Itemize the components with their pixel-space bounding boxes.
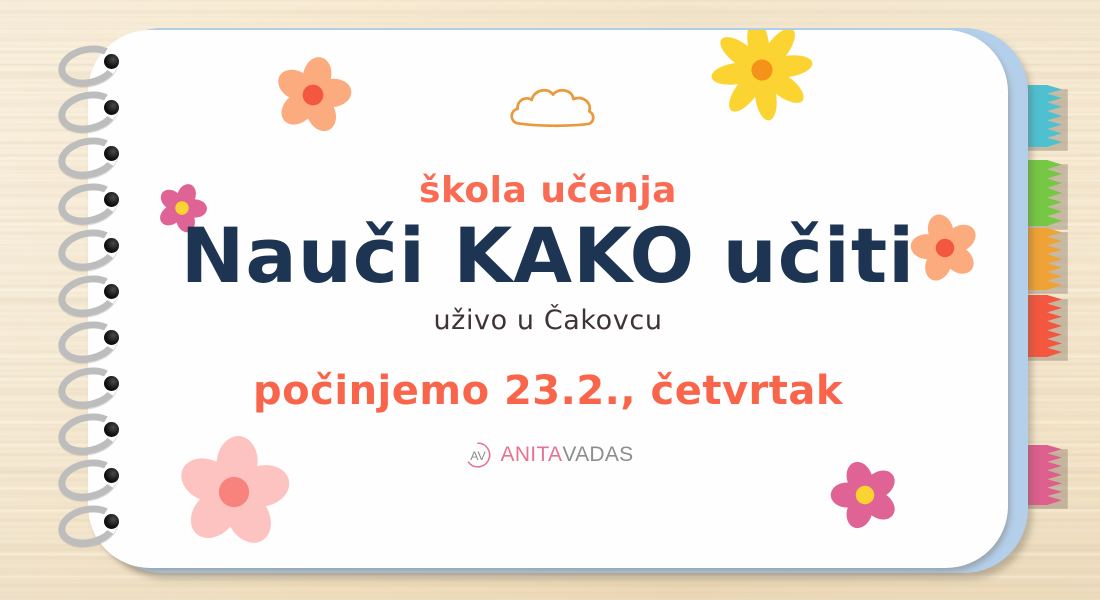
flower-yellow-topright [708,30,816,124]
spiral-ring [58,138,122,180]
spiral-ring [58,414,122,456]
spiral-ring-hole [104,376,119,391]
kicker-text: škola učenja [419,170,677,211]
av-monogram-letters: AV [470,449,486,463]
brand-name-second: VADAS [562,443,633,467]
cloud-doodle [508,84,598,134]
flower-orange-topleft [269,51,357,139]
tagline-text: uživo u Čakovcu [433,305,662,336]
start-date-text: počinjemo 23.2., četvrtak [253,368,843,414]
flower-pink-bottomright [823,453,906,536]
flower-orange-right [905,208,985,288]
spiral-ring [58,368,122,410]
spiral-ring-hole [104,284,119,299]
spiral-ring [58,184,122,226]
notebook-page: škola učenja Nauči KAKO učiti uživo u Ča… [88,30,1008,568]
spiral-ring [58,46,122,88]
brand-wordmark: ANITA VADAS [501,443,634,467]
spiral-ring [58,322,122,364]
poster-canvas: škola učenja Nauči KAKO učiti uživo u Ča… [0,0,1100,600]
spiral-ring [58,92,122,134]
spiral-ring-hole [104,54,119,69]
brand-name-first: ANITA [501,443,563,467]
spiral-ring [58,230,122,272]
spiral-ring-hole [104,100,119,115]
spiral-ring-hole [104,192,119,207]
headline-text: Nauči KAKO učiti [181,215,915,297]
spiral-ring-hole [104,514,119,529]
spiral-ring [58,460,122,502]
spiral-ring-hole [104,468,119,483]
flower-pink-big-bottom [175,433,294,552]
spiral-ring [58,506,122,548]
spiral-ring-hole [104,146,119,161]
spiral-ring-hole [104,422,119,437]
spiral-ring-hole [104,330,119,345]
spiral-ring-hole [104,238,119,253]
spiral-binding [58,46,148,556]
spiral-ring [58,276,122,318]
brand-logo: AV ANITA VADAS [463,440,634,470]
av-monogram-icon: AV [463,440,493,470]
